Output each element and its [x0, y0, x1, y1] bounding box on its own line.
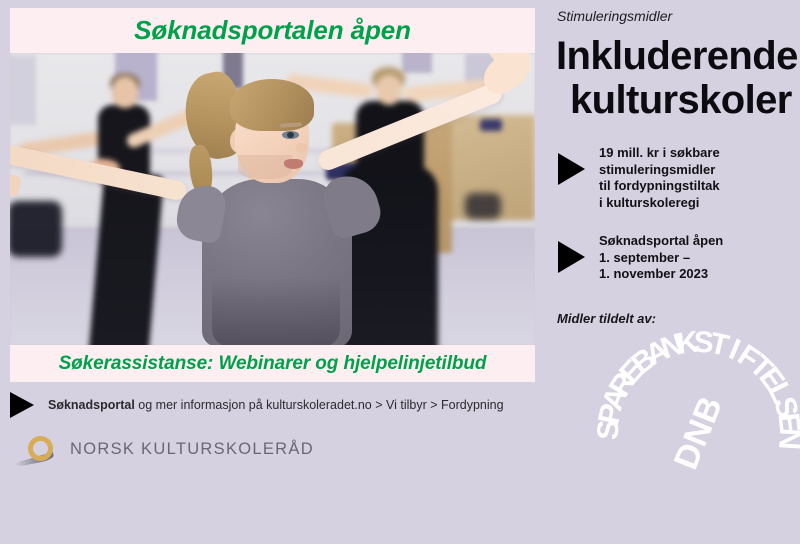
application-portal-info-row: Søknadsportal og mer informasjon på kult…	[10, 390, 550, 420]
triangle-bullet-icon	[558, 241, 585, 273]
bullet-item-2: Søknadsportal åpen 1. september – 1. nov…	[558, 233, 723, 283]
headline-line-2: kulturskoler	[556, 78, 800, 122]
bullet-1-line-1: 19 mill. kr i søkbare	[599, 145, 720, 162]
wall-picture-icon	[10, 55, 36, 125]
headline-line-1: Inkluderende	[556, 34, 798, 78]
norsk-kulturskolerad-logo-icon	[14, 430, 66, 468]
bullet-2-line-3: 1. november 2023	[599, 266, 723, 283]
info-text: Søknadsportal og mer informasjon på kult…	[48, 398, 504, 412]
bullet-item-1: 19 mill. kr i søkbare stimuleringsmidler…	[558, 145, 720, 211]
info-rest-text: og mer informasjon på kulturskoleradet.n…	[135, 398, 504, 412]
banner-bottom: Søkerassistanse: Webinarer og hjelpelinj…	[10, 345, 535, 382]
triangle-bullet-icon	[558, 153, 585, 185]
bullet-2-line-2: 1. september –	[599, 250, 723, 267]
bullet-1-text: 19 mill. kr i søkbare stimuleringsmidler…	[599, 145, 720, 211]
banner-top: Søknadsportalen åpen	[10, 8, 535, 53]
bullet-1-line-3: til fordypningstiltak	[599, 178, 720, 195]
bullet-2-line-1: Søknadsportal åpen	[599, 233, 723, 250]
page-title: Inkluderende kulturskoler	[556, 34, 800, 122]
sparebankstiftelsen-dnb-logo: SPAREBANKSTIFTELSEN DNB	[588, 322, 800, 544]
bullet-1-line-2: stimuleringsmidler	[599, 162, 720, 179]
dnb-wordmark: DNB	[667, 391, 731, 475]
foreground-dancer	[130, 67, 430, 345]
right-column: Stimuleringsmidler Inkluderende kultursk…	[552, 0, 800, 476]
triangle-bullet-icon	[10, 392, 34, 418]
kicker-label: Stimuleringsmidler	[557, 8, 672, 24]
dark-bag	[10, 201, 62, 257]
ring-icon	[28, 436, 53, 461]
bullet-1-line-4: i kulturskoleregi	[599, 195, 720, 212]
organisation-name: NORSK KULTURSKOLERÅD	[70, 440, 314, 459]
dark-bag	[465, 193, 501, 219]
poster-root: Søknadsportalen åpen	[0, 0, 800, 476]
organisation-logo: NORSK KULTURSKOLERÅD	[14, 429, 314, 469]
blue-object	[480, 119, 502, 131]
dance-studio-photo	[10, 53, 535, 345]
left-column: Søknadsportalen åpen	[10, 8, 535, 382]
bullet-2-text: Søknadsportal åpen 1. september – 1. nov…	[599, 233, 723, 283]
info-bold-label: Søknadsportal	[48, 398, 135, 412]
